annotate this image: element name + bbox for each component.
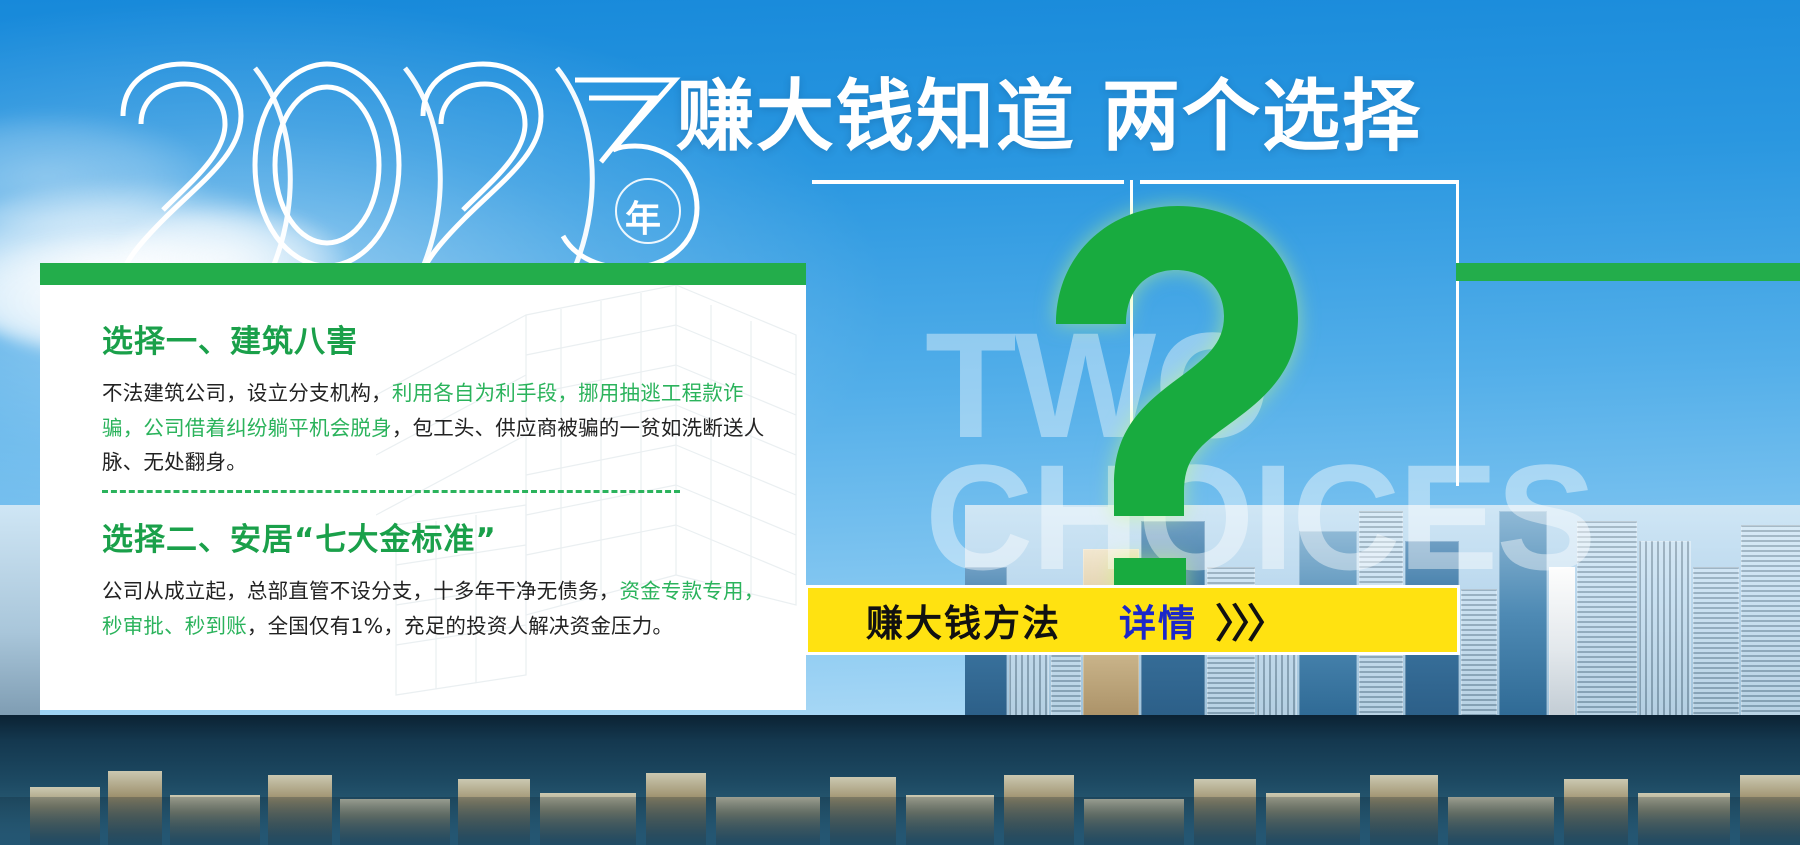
bottom-cityscape-strip xyxy=(0,715,1800,845)
section-2: 选择二、安居“七大金标准” 公司从成立起，总部直管不设分支，十多年干净无债务，资… xyxy=(102,523,792,643)
headline-rule-left xyxy=(812,180,1124,184)
card-green-topbar xyxy=(40,263,806,285)
section-1-text-a: 不法建筑公司，设立分支机构， xyxy=(102,381,392,405)
chevron-right-icon: 〉〉〉 xyxy=(1215,591,1283,649)
headline-part-1: 赚大钱知道 xyxy=(676,72,1076,162)
content-card: 选择一、建筑八害 不法建筑公司，设立分支机构，利用各自为利手段，挪用抽逃工程款诈… xyxy=(40,285,806,710)
cta-label-detail[interactable]: 详情 xyxy=(1119,593,1197,647)
section-2-title: 选择二、安居“七大金标准” xyxy=(102,523,792,557)
cta-label-primary: 赚大钱方法 xyxy=(866,593,1061,647)
headline-part-2: 两个选择 xyxy=(1102,72,1422,162)
section-1-body: 不法建筑公司，设立分支机构，利用各自为利手段，挪用抽逃工程款诈骗，公司借着纠纷躺… xyxy=(102,376,770,479)
section-2-text-b: ，全国仅有1%，充足的投资人解决资金压力。 xyxy=(247,614,673,638)
right-green-bar xyxy=(1456,263,1800,281)
cta-banner[interactable]: 赚大钱方法 详情 〉〉〉 xyxy=(805,585,1460,655)
section-2-body: 公司从成立起，总部直管不设分支，十多年干净无债务，资金专款专用，秒审批、秒到账，… xyxy=(102,574,774,643)
headline-rule-right xyxy=(1140,180,1456,184)
section-2-text-a: 公司从成立起，总部直管不设分支，十多年干净无债务， xyxy=(102,579,620,603)
question-mark-icon xyxy=(1010,196,1320,636)
year-suffix-label: 年 xyxy=(625,190,662,242)
section-divider xyxy=(102,490,680,493)
poster-canvas: 年 赚大钱知道两个选择 TWO CHOICES xyxy=(0,0,1800,845)
left-photo-edge xyxy=(0,505,40,717)
section-1-title: 选择一、建筑八害 xyxy=(102,325,770,359)
page-title: 赚大钱知道两个选择 xyxy=(676,78,1422,156)
